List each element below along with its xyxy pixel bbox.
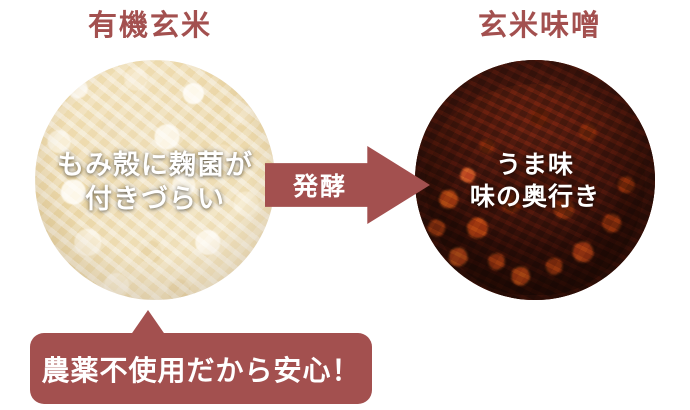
caption-miso-umami-depth: うま味 味の奥行き: [415, 150, 655, 213]
fermentation-arrow-label: 発酵: [265, 146, 375, 224]
callout-pesticide-free-text: 農薬不使用だから安心！: [41, 349, 360, 389]
caption-rice-koji-difficulty: もみ殻に麹菌が 付きづらい: [35, 148, 275, 216]
infographic-canvas: 有機玄米 玄米味噌 もみ殻に麹菌が 付きづらい うま味 味の奥行き 発酵 農薬不…: [0, 0, 690, 410]
photo-circle-brown-rice: もみ殻に麹菌が 付きづらい: [35, 60, 275, 300]
heading-brown-rice-miso: 玄米味噌: [390, 12, 690, 41]
callout-pesticide-free: 農薬不使用だから安心！: [30, 333, 372, 404]
photo-circle-brown-rice-miso: うま味 味の奥行き: [415, 60, 655, 300]
heading-organic-brown-rice: 有機玄米: [0, 12, 300, 41]
